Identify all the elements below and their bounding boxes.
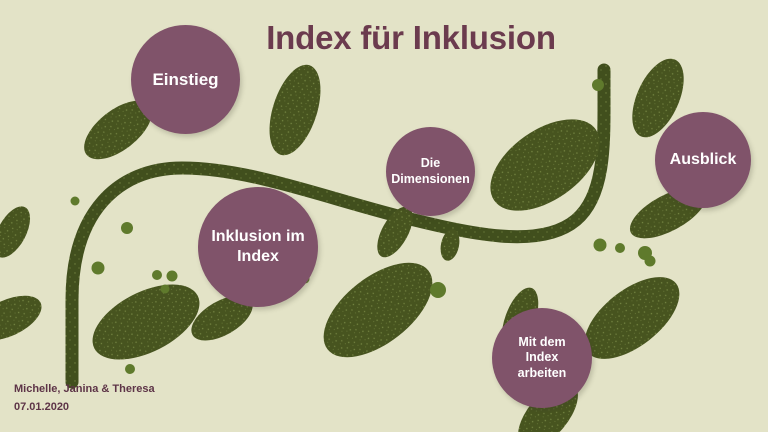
leaf-icon [0, 51, 714, 432]
credit-date: 07.01.2020 [14, 398, 155, 416]
topic-bubble-ausblick[interactable]: Ausblick [655, 112, 751, 208]
topic-bubble-label: Einstieg [143, 69, 227, 90]
topic-bubble-label: Ausblick [661, 150, 746, 170]
page-title: Index für Inklusion [0, 20, 768, 56]
topic-bubble-label: Die Dimensionen [382, 156, 478, 187]
credit-authors: Michelle, Janina & Theresa [14, 380, 155, 398]
topic-bubble-die-dimensionen[interactable]: Die Dimensionen [386, 127, 475, 216]
topic-bubble-label: Inklusion im Index [198, 227, 318, 267]
topic-bubble-inklusion-im-index[interactable]: Inklusion im Index [198, 187, 318, 307]
credit-block: Michelle, Janina & Theresa 07.01.2020 [14, 380, 155, 416]
topic-bubble-mit-dem-index-arbeiten[interactable]: Mit dem Index arbeiten [492, 308, 592, 408]
topic-bubble-label: Mit dem Index arbeiten [492, 335, 592, 382]
presentation-slide: Index für Inklusion Einstieg Inklusion i… [0, 0, 768, 432]
vine-branch-icon [0, 0, 768, 432]
